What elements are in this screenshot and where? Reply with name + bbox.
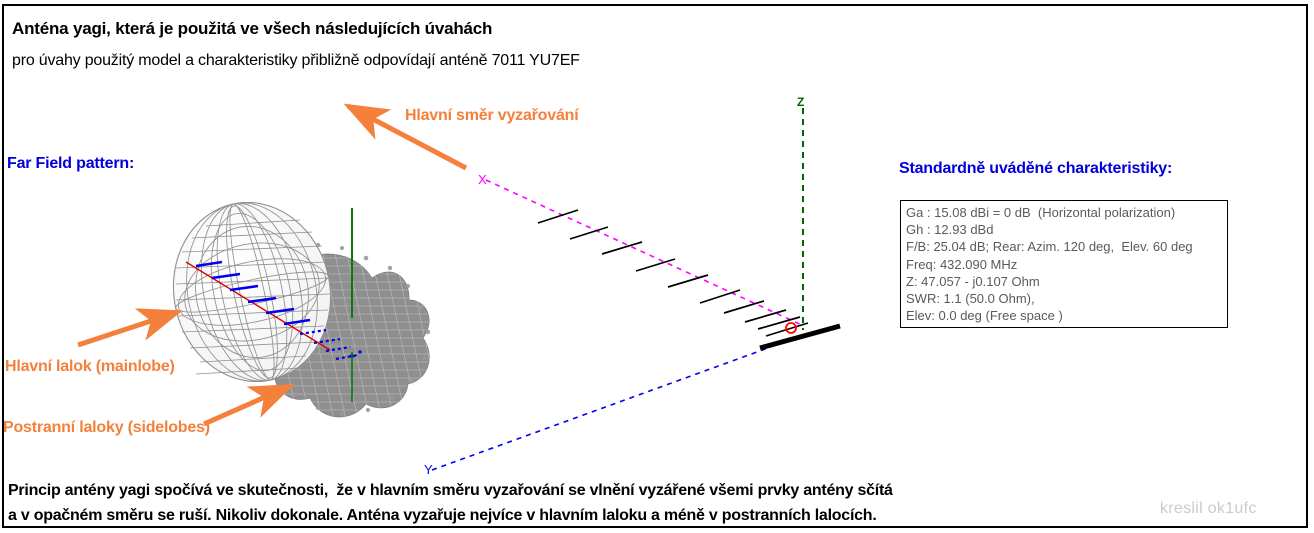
- caption-line-2: a v opačném směru se ruší. Nikoliv dokon…: [8, 503, 893, 528]
- footer-caption: Princip antény yagi spočívá ve skutečnos…: [8, 478, 893, 528]
- spec-line-front-to-back: F/B: 25.04 dB; Rear: Azim. 120 deg, Elev…: [906, 238, 1227, 255]
- spec-line-elevation: Elev: 0.0 deg (Free space ): [906, 307, 1227, 324]
- spec-line-gain-dbd: Gh : 12.93 dBd: [906, 221, 1227, 238]
- mainlobe-label: Hlavní lalok (mainlobe): [5, 358, 175, 376]
- spec-line-swr: SWR: 1.1 (50.0 Ohm),: [906, 290, 1227, 307]
- far-field-pattern-label: Far Field pattern:: [7, 155, 134, 173]
- spec-line-impedance: Z: 47.057 - j0.107 Ohm: [906, 273, 1227, 290]
- specs-heading: Standardně uváděné charakteristiky:: [899, 160, 1172, 178]
- antenna-illustration-page: Anténa yagi, která je použitá ve všech n…: [0, 0, 1314, 533]
- author-watermark: kreslil ok1ufc: [1160, 500, 1257, 518]
- spec-line-gain-dbi: Ga : 15.08 dBi = 0 dB (Horizontal polari…: [906, 204, 1227, 221]
- sidelobes-label: Postranní laloky (sidelobes): [3, 419, 210, 437]
- page-title: Anténa yagi, která je použitá ve všech n…: [12, 19, 492, 39]
- caption-line-1: Princip antény yagi spočívá ve skutečnos…: [8, 478, 893, 503]
- spec-line-frequency: Freq: 432.090 MHz: [906, 256, 1227, 273]
- main-direction-label: Hlavní směr vyzařování: [405, 107, 578, 125]
- specs-box: Ga : 15.08 dBi = 0 dB (Horizontal polari…: [900, 200, 1228, 328]
- page-subtitle: pro úvahy použitý model a charakteristik…: [12, 52, 580, 70]
